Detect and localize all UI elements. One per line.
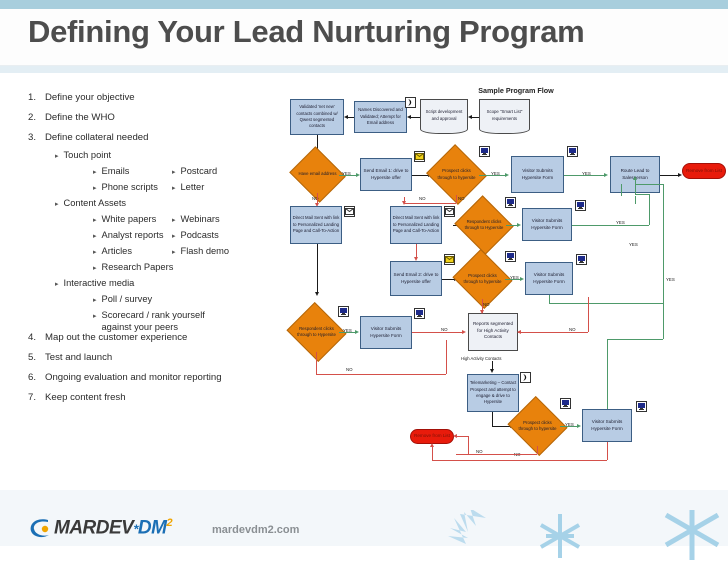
node-respondent-clicks-2[interactable]: Respondent clicks through to Hypersite bbox=[294, 312, 339, 352]
list-number: 4. bbox=[14, 332, 36, 343]
node-visitor-submits-1[interactable]: Visitor Submits Hypersite Form bbox=[511, 156, 564, 193]
edge-line bbox=[635, 196, 636, 204]
edge-line bbox=[607, 387, 608, 409]
bullet-icon: ▸ bbox=[93, 296, 97, 304]
brand-mardev: MARDEV bbox=[54, 517, 133, 538]
edge-line bbox=[446, 340, 447, 374]
sublist-item-postcard: ▸Postcard bbox=[172, 166, 217, 176]
flowchart-title: Sample Program Flow bbox=[436, 86, 596, 95]
list-number: 6. bbox=[14, 372, 36, 383]
node-direct-mail-1[interactable]: Direct Mail Sent with link to Personaliz… bbox=[290, 206, 342, 244]
sublist-label: Emails bbox=[102, 166, 130, 176]
email-icon bbox=[414, 151, 425, 162]
sublist-item-emails: ▸Emails bbox=[93, 166, 129, 176]
monitor-icon bbox=[505, 251, 516, 262]
edge-label-high-activity: High Activity Contacts bbox=[461, 356, 502, 361]
edge-line bbox=[607, 442, 608, 460]
node-scope-smart-list[interactable]: Scope "Smart List" requirements bbox=[479, 99, 530, 134]
edge-arrow bbox=[480, 310, 484, 314]
sublist-label: Articles bbox=[102, 246, 132, 256]
email-icon bbox=[444, 206, 455, 217]
edge-line bbox=[348, 117, 354, 118]
email-icon bbox=[444, 254, 455, 265]
list-number: 7. bbox=[14, 392, 36, 403]
sublist-item-analyst-reports: ▸Analyst reports bbox=[93, 230, 164, 240]
monitor-icon bbox=[575, 200, 586, 211]
edge-line bbox=[588, 297, 589, 332]
decision-label: Respondent clicks through to Hypersite bbox=[294, 312, 339, 352]
list-label: Test and launch bbox=[45, 352, 112, 363]
edge-arrow bbox=[517, 330, 521, 334]
node-validated-contacts[interactable]: Validated 'net new' contacts combined w/… bbox=[290, 99, 344, 135]
edge-line bbox=[316, 352, 317, 374]
sublist-item-articles: ▸Articles bbox=[93, 246, 132, 256]
list-item: 1.Define your objective bbox=[14, 92, 135, 103]
node-respondent-clicks-1[interactable]: Respondent clicks through to Hypersite bbox=[462, 205, 506, 245]
list-number: 2. bbox=[14, 112, 36, 123]
list-label: Map out the customer experience bbox=[45, 332, 187, 343]
monitor-icon bbox=[567, 146, 578, 157]
edge-arrow bbox=[402, 201, 406, 205]
decision-label: Prospect clicks through to hypersite bbox=[434, 154, 479, 195]
edge-line bbox=[404, 203, 456, 204]
edge-line bbox=[432, 460, 607, 461]
bullet-icon: ▸ bbox=[93, 312, 97, 320]
sublist-label: Flash demo bbox=[181, 246, 230, 256]
brand-superscript: 2 bbox=[166, 517, 172, 529]
edge-arrow bbox=[462, 330, 466, 334]
edge-line bbox=[412, 332, 464, 333]
list-number: 5. bbox=[14, 352, 36, 363]
email-icon bbox=[344, 206, 355, 217]
bullet-icon: ▸ bbox=[172, 232, 176, 240]
sublist-label: Postcard bbox=[181, 166, 218, 176]
edge-arrow bbox=[344, 115, 348, 119]
sublist-label: Poll / survey bbox=[102, 294, 153, 304]
bullet-icon: ▸ bbox=[55, 200, 59, 208]
edge-line bbox=[635, 184, 663, 185]
edge-line bbox=[456, 436, 468, 437]
edge-arrow bbox=[430, 443, 434, 447]
node-visitor-submits-3[interactable]: Visitor Submits Hypersite Form bbox=[525, 262, 573, 295]
edge-label-no: NO bbox=[569, 327, 576, 332]
monitor-icon bbox=[479, 146, 490, 157]
edge-arrow bbox=[355, 330, 359, 334]
bullet-icon: ▸ bbox=[93, 168, 97, 176]
sublist-label: Webinars bbox=[181, 214, 220, 224]
sublist-item-content-assets: ▸Content Assets bbox=[55, 198, 126, 208]
list-item: 5.Test and launch bbox=[14, 352, 112, 363]
sublist-item-flash-demo: ▸Flash demo bbox=[172, 246, 229, 256]
edge-line bbox=[537, 446, 538, 454]
edge-arrow bbox=[577, 424, 581, 428]
edge-label-no: NO bbox=[483, 302, 490, 307]
list-item: 6.Ongoing evaluation and monitor reporti… bbox=[14, 372, 222, 383]
sublist-label: Scorecard / rank yourself against your p… bbox=[102, 310, 232, 333]
sublist-item-phone-scripts: ▸Phone scripts bbox=[93, 182, 158, 192]
edge-line bbox=[456, 454, 537, 455]
bullet-icon: ▸ bbox=[93, 248, 97, 256]
node-remove-from-list-1[interactable]: Remove from List bbox=[682, 163, 726, 179]
edge-line bbox=[492, 412, 493, 426]
node-remove-from-list-2[interactable]: Remove from List bbox=[410, 429, 454, 444]
list-label: Define collateral needed bbox=[45, 132, 148, 143]
node-names-discovered[interactable]: Names Discovered and Validated; Attempt … bbox=[354, 101, 407, 133]
monitor-icon bbox=[414, 308, 425, 319]
sublist-item-research-papers: ▸Research Papers bbox=[93, 262, 173, 272]
edge-line bbox=[479, 175, 506, 176]
node-visitor-submits-5[interactable]: Visitor Submits Hypersite Form bbox=[582, 409, 632, 442]
monitor-icon bbox=[338, 306, 349, 317]
edge-line bbox=[317, 244, 318, 294]
edge-line bbox=[621, 184, 622, 196]
list-item: 4.Map out the customer experience bbox=[14, 332, 187, 343]
sublist-label: White papers bbox=[102, 214, 157, 224]
decorative-stars bbox=[430, 510, 728, 566]
decision-label: Prospect clicks through to hypersite bbox=[460, 259, 505, 299]
edge-label-no: NO bbox=[419, 196, 426, 201]
list-item: 2.Define the WHO bbox=[14, 112, 115, 123]
edge-line bbox=[468, 436, 469, 454]
sublist-item-touch-point: ▸Touch point bbox=[55, 150, 111, 160]
bullet-icon: ▸ bbox=[55, 280, 59, 288]
edge-arrow bbox=[633, 176, 637, 180]
node-direct-mail-2[interactable]: Direct Mail Sent with link to Personaliz… bbox=[390, 206, 442, 244]
edge-arrow bbox=[604, 173, 608, 177]
list-number: 3. bbox=[14, 132, 36, 143]
sublist-label: Analyst reports bbox=[102, 230, 164, 240]
bullet-icon: ▸ bbox=[172, 184, 176, 192]
decision-label: Have email address bbox=[296, 156, 339, 193]
sublist-label: Touch point bbox=[64, 150, 112, 160]
bullet-icon: ▸ bbox=[172, 248, 176, 256]
sublist-label: Interactive media bbox=[64, 278, 135, 288]
sublist-label: Podcasts bbox=[181, 230, 219, 240]
edge-label-no: NO bbox=[458, 196, 465, 201]
node-script-development[interactable]: Script development and approval bbox=[420, 99, 468, 134]
edge-label-yes: YES bbox=[629, 242, 638, 247]
decision-label: Respondent clicks through to Hypersite bbox=[462, 205, 506, 245]
list-label: Define the WHO bbox=[45, 112, 115, 123]
node-visitor-submits-4[interactable]: Visitor Submits Hypersite Form bbox=[360, 316, 412, 349]
edge-line bbox=[572, 225, 649, 226]
node-send-email-2[interactable]: Send Email 2: drive to Hypersite offer bbox=[390, 261, 442, 296]
sublist-item-letter: ▸Letter bbox=[172, 182, 204, 192]
monitor-icon bbox=[636, 401, 647, 412]
edge-line bbox=[456, 195, 457, 203]
edge-line bbox=[410, 117, 420, 118]
list-item: 3.Define collateral needed bbox=[14, 132, 148, 143]
edge-arrow bbox=[520, 277, 524, 281]
edge-line bbox=[316, 374, 446, 375]
footer-url: mardevdm2.com bbox=[212, 524, 299, 536]
brand-logo: MARDEV*DM2 bbox=[28, 516, 172, 540]
edge-line bbox=[549, 295, 550, 303]
edge-arrow bbox=[490, 369, 494, 373]
bullet-icon: ▸ bbox=[172, 216, 176, 224]
bullet-icon: ▸ bbox=[93, 184, 97, 192]
node-prospect-clicks-2[interactable]: Prospect clicks through to hypersite bbox=[460, 259, 505, 299]
node-have-email-address[interactable]: Have email address bbox=[296, 156, 339, 193]
bullet-icon: ▸ bbox=[93, 216, 97, 224]
sublist-label: Phone scripts bbox=[102, 182, 158, 192]
edge-arrow bbox=[407, 115, 411, 119]
edge-line bbox=[663, 184, 664, 339]
edge-line bbox=[607, 339, 663, 340]
list-label: Ongoing evaluation and monitor reporting bbox=[45, 372, 222, 383]
list-label: Define your objective bbox=[45, 92, 135, 103]
flowchart: Sample Program Flow Validated 'net new' … bbox=[286, 84, 728, 484]
phone-icon bbox=[405, 97, 416, 108]
edge-line bbox=[635, 194, 649, 195]
monitor-icon bbox=[505, 197, 516, 208]
sublist-item-poll-survey: ▸Poll / survey bbox=[93, 294, 152, 304]
bullet-icon: ▸ bbox=[93, 232, 97, 240]
edge-line bbox=[607, 339, 608, 387]
brand-dm: DM bbox=[138, 517, 167, 538]
sublist-item-scorecard: ▸Scorecard / rank yourself against your … bbox=[93, 310, 232, 333]
sublist-item-podcasts: ▸Podcasts bbox=[172, 230, 219, 240]
node-reports-segmented[interactable]: Reports segmented for High Activity Cont… bbox=[468, 313, 518, 351]
edge-label-yes: YES bbox=[666, 277, 675, 282]
node-visitor-submits-2[interactable]: Visitor Submits Hypersite Form bbox=[522, 208, 572, 241]
page-title: Defining Your Lead Nurturing Program bbox=[28, 14, 584, 50]
monitor-icon bbox=[560, 398, 571, 409]
sublist-label: Content Assets bbox=[64, 198, 127, 208]
sublist-item-interactive-media: ▸Interactive media bbox=[55, 278, 134, 288]
node-prospect-clicks-1[interactable]: Prospect clicks through to hypersite bbox=[434, 154, 479, 195]
node-prospect-clicks-3[interactable]: Prospect clicks through to hypersite bbox=[515, 406, 560, 446]
edge-line bbox=[518, 332, 588, 333]
phone-icon bbox=[520, 372, 531, 383]
node-send-email-1[interactable]: Send Email 1: drive to Hypersite offer bbox=[360, 158, 412, 191]
bullet-icon: ▸ bbox=[172, 168, 176, 176]
top-accent-band bbox=[0, 0, 728, 9]
list-item: 7.Keep content fresh bbox=[14, 392, 126, 403]
list-number: 1. bbox=[14, 92, 36, 103]
brand-name: MARDEV*DM2 bbox=[54, 517, 172, 539]
edge-label-no: NO bbox=[346, 367, 353, 372]
sublist-label: Research Papers bbox=[102, 262, 174, 272]
monitor-icon bbox=[576, 254, 587, 265]
bullet-icon: ▸ bbox=[55, 152, 59, 160]
edge-line bbox=[432, 446, 433, 460]
edge-line bbox=[649, 194, 650, 225]
outline-list: 1.Define your objective 2.Define the WHO… bbox=[0, 84, 286, 414]
bullet-icon: ▸ bbox=[93, 264, 97, 272]
edge-line bbox=[549, 303, 663, 304]
edge-arrow bbox=[468, 115, 472, 119]
sublist-item-white-papers: ▸White papers bbox=[93, 214, 156, 224]
sublist-item-webinars: ▸Webinars bbox=[172, 214, 220, 224]
edge-line bbox=[471, 117, 479, 118]
edge-arrow bbox=[315, 292, 319, 296]
edge-line bbox=[660, 175, 680, 176]
edge-arrow bbox=[517, 223, 521, 227]
decision-label: Prospect clicks through to hypersite bbox=[515, 406, 560, 446]
title-underline-band bbox=[0, 66, 728, 73]
mardev-swoosh-icon bbox=[28, 516, 54, 540]
list-label: Keep content fresh bbox=[45, 392, 126, 403]
edge-line bbox=[635, 179, 636, 194]
edge-arrow bbox=[505, 173, 509, 177]
node-telemarketing[interactable]: Telemarketing – Contact Prospect and att… bbox=[467, 374, 519, 412]
sublist-label: Letter bbox=[181, 182, 205, 192]
edge-line bbox=[564, 175, 606, 176]
